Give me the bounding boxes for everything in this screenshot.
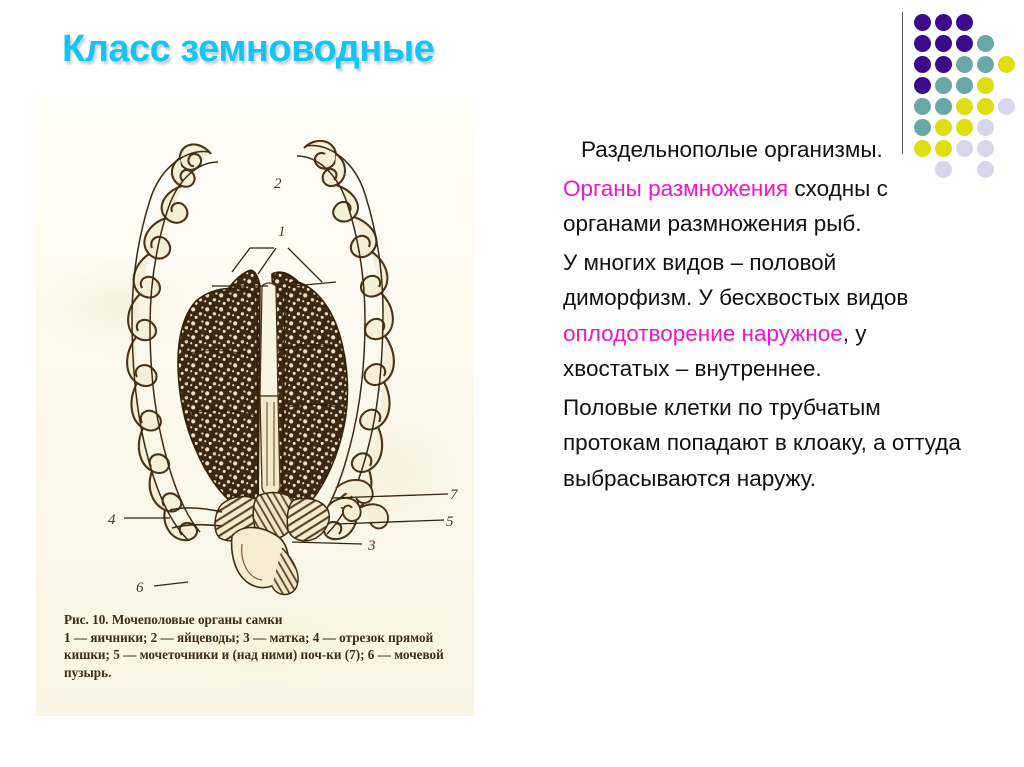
figure-caption-legend: 1 — яичники; 2 — яйцеводы; 3 — матка; 4 … — [64, 629, 456, 682]
decoration-dot — [914, 35, 931, 52]
paragraph-4-text: Половые клетки по трубчатым протокам поп… — [563, 395, 961, 491]
content-text-block: Раздельнополые организмы. Органы размнож… — [563, 132, 963, 499]
decoration-dot — [935, 77, 952, 94]
paragraph-3-part-a: У многих видов – половой диморфизм. У бе… — [563, 250, 908, 311]
decoration-dot — [914, 77, 931, 94]
decoration-dot — [977, 35, 994, 52]
decoration-dot — [956, 35, 973, 52]
decoration-dot — [956, 56, 973, 73]
figure-label-3: 3 — [367, 538, 376, 554]
figure-label-4: 4 — [108, 512, 116, 528]
figure-caption: Рис. 10. Мочеполовые органы самки 1 — яи… — [64, 611, 456, 681]
decoration-dot — [914, 56, 931, 73]
decoration-dot — [977, 98, 994, 115]
figure-label-2: 2 — [274, 176, 282, 192]
highlight-oplodotvorenie-naruzhnoe: оплодотворение наружное — [563, 321, 843, 346]
decoration-dot — [977, 56, 994, 73]
paragraph-1: Раздельнополые организмы. — [563, 132, 963, 168]
decoration-dot — [935, 98, 952, 115]
decoration-dot — [935, 14, 952, 31]
paragraph-1-text: Раздельнополые организмы. — [581, 137, 883, 162]
decoration-dot — [977, 140, 994, 157]
decoration-dot — [998, 98, 1015, 115]
figure-caption-title: Рис. 10. Мочеполовые органы самки — [64, 611, 456, 629]
paragraph-4: Половые клетки по трубчатым протокам поп… — [563, 390, 963, 497]
paragraph-2: Органы размножения сходны с органами раз… — [563, 171, 963, 242]
figure-label-1: 1 — [278, 224, 286, 240]
figure-label-7: 7 — [450, 487, 459, 503]
decoration-dot — [977, 119, 994, 136]
figure-label-5: 5 — [446, 514, 454, 530]
decoration-dot — [935, 35, 952, 52]
decoration-dot — [956, 98, 973, 115]
page-title: Класс земноводные — [62, 28, 434, 71]
frog-urogenital-diagram: 2 1 7 5 4 3 6 — [36, 96, 474, 656]
paragraph-3: У многих видов – половой диморфизм. У бе… — [563, 245, 963, 387]
decoration-dot — [956, 77, 973, 94]
decoration-dot — [914, 98, 931, 115]
decoration-dot — [977, 161, 994, 178]
decoration-dot — [998, 56, 1015, 73]
decoration-dot — [956, 14, 973, 31]
decoration-dot — [935, 56, 952, 73]
decoration-dot — [977, 77, 994, 94]
highlight-organy-razmnozheniya: Органы размножения — [563, 176, 788, 201]
figure-label-6: 6 — [136, 580, 144, 596]
decoration-dot — [914, 14, 931, 31]
